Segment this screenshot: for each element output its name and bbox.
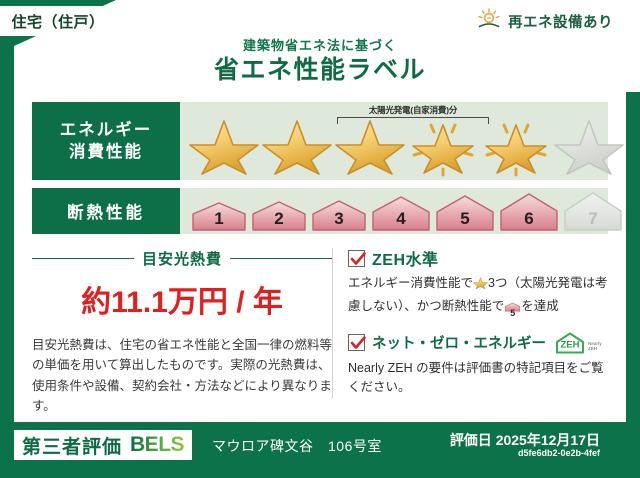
- net-zero-item: ネット・ゼロ・エネルギー ZEH Nearly ZEH: [348, 331, 608, 399]
- zeh-standard-heading: ZEH水準: [348, 246, 608, 270]
- energy-performance-label: エネルギー 消費性能: [32, 102, 180, 180]
- insulation-badge-icon: 5: [504, 300, 521, 321]
- energy-star-rating: 太陽光発電(自家消費)分: [180, 102, 608, 180]
- bels-logo: BELS: [130, 433, 184, 457]
- zeh-logo-sub2: ZEH: [588, 346, 597, 351]
- energy-label-line1: エネルギー: [60, 119, 153, 141]
- insulation-level-3: 3: [310, 199, 368, 232]
- insulation-level-6: 6: [498, 192, 560, 232]
- bels-jp-label: 第三者評価: [22, 432, 122, 459]
- zeh-house-logo-icon: ZEH Nearly ZEH: [553, 331, 602, 355]
- zeh-standard-title: ZEH水準: [372, 246, 439, 270]
- cost-heading-rule-right: [230, 258, 332, 260]
- checkmark-icon: [348, 250, 365, 267]
- cost-heading-label: 目安光熱費: [142, 248, 222, 269]
- net-zero-body: Nearly ZEH の要件は評価書の特記項目をご覧ください。: [348, 359, 608, 399]
- evaluation-id: d5fe6db2-0e2b-4fef: [518, 448, 600, 458]
- insulation-level-5-number: 5: [434, 209, 496, 229]
- housing-type-label: 住宅（住戸）: [11, 11, 104, 32]
- energy-performance-row: エネルギー 消費性能 太陽光発電(自家消費)分: [32, 102, 608, 180]
- insulation-level-4-number: 4: [370, 209, 432, 229]
- insulation-level-strip: 1 2 3: [180, 191, 624, 232]
- insulation-badge-number: 5: [504, 306, 521, 320]
- insulation-performance-label: 断熱性能: [32, 188, 180, 234]
- zeh-standard-body: エネルギー消費性能で3つ（太陽光発電は考慮しない）、かつ断熱性能で5を達成: [348, 274, 608, 321]
- energy-label-root: 住宅（住戸） 再エネ設備あり 建築物省エネ法に基づく 省エネ性能ラベル: [0, 0, 640, 478]
- insulation-level-6-number: 6: [498, 209, 560, 229]
- cost-heading: 目安光熱費: [32, 248, 332, 269]
- star-1: [188, 115, 260, 177]
- insulation-level-4: 4: [370, 195, 432, 232]
- footer: 第三者評価 BELS マウロア碑文谷 106号室 評価日 2025年12月17日…: [0, 422, 640, 478]
- checkmark-icon: [348, 334, 365, 351]
- zeh-standard-body-part3: を達成: [521, 299, 559, 313]
- cost-amount: 約11.1万円 / 年: [32, 277, 332, 321]
- insulation-level-2-number: 2: [250, 209, 308, 229]
- label-card: エネルギー 消費性能 太陽光発電(自家消費)分: [14, 92, 626, 422]
- insulation-level-5: 5: [434, 194, 496, 232]
- solar-sun-icon: [476, 8, 502, 35]
- insulation-level-7-empty: 7: [562, 191, 624, 232]
- zeh-standard-item: ZEH水準 エネルギー消費性能で3つ（太陽光発電は考慮しない）、かつ断熱性能で5…: [348, 246, 608, 321]
- insulation-level-7-number: 7: [562, 209, 624, 229]
- net-zero-heading: ネット・ゼロ・エネルギー ZEH Nearly ZEH: [348, 331, 608, 355]
- housing-type-tag: 住宅（住戸）: [0, 6, 116, 36]
- title-block: 建築物省エネ法に基づく 省エネ性能ラベル: [0, 38, 640, 86]
- insulation-performance-row: 断熱性能: [32, 188, 608, 234]
- star-3: [334, 115, 406, 177]
- insulation-level-1-number: 1: [190, 209, 248, 229]
- renewable-equipment-badge: 再エネ設備あり: [468, 6, 636, 36]
- star-2: [261, 115, 333, 177]
- svg-text:ZEH: ZEH: [561, 339, 580, 350]
- star-icon: [473, 276, 488, 297]
- star-6-empty: [553, 115, 625, 177]
- cost-heading-rule-left: [32, 258, 134, 260]
- star-4-solar: [407, 115, 479, 177]
- insulation-level-3-number: 3: [310, 209, 368, 229]
- lower-section: 目安光熱費 約11.1万円 / 年 目安光熱費は、住宅の省エネ性能と全国一律の燃…: [32, 242, 608, 412]
- renewable-badge-label: 再エネ設備あり: [508, 11, 613, 32]
- star-5-solar: [480, 115, 552, 177]
- insulation-level-2: 2: [250, 200, 308, 232]
- zeh-logo-subtext: Nearly ZEH: [588, 342, 602, 354]
- zeh-standard-body-part1: エネルギー消費性能で: [348, 276, 473, 290]
- net-zero-title: ネット・ゼロ・エネルギー: [372, 332, 546, 353]
- insulation-label-text: 断熱性能: [67, 199, 145, 223]
- star-strip: [180, 115, 625, 177]
- utility-cost-column: 目安光熱費 約11.1万円 / 年 目安光熱費は、住宅の省エネ性能と全国一律の燃…: [32, 242, 332, 412]
- bels-plate: 第三者評価 BELS: [14, 430, 192, 460]
- energy-label-line2: 消費性能: [69, 141, 143, 163]
- insulation-level-1: 1: [190, 201, 248, 232]
- cost-note: 目安光熱費は、住宅の省エネ性能と全国一律の燃料等の単価を用いて算出したものです。…: [32, 335, 332, 416]
- property-name: マウロア碑文谷 106号室: [212, 436, 382, 456]
- insulation-level-rating: 1 2 3: [180, 188, 608, 234]
- evaluation-date: 評価日 2025年12月17日: [450, 430, 600, 450]
- title-subtitle: 建築物省エネ法に基づく: [0, 38, 640, 54]
- zeh-column: ZEH水準 エネルギー消費性能で3つ（太陽光発電は考慮しない）、かつ断熱性能で5…: [332, 242, 608, 412]
- page-title: 省エネ性能ラベル: [0, 55, 640, 86]
